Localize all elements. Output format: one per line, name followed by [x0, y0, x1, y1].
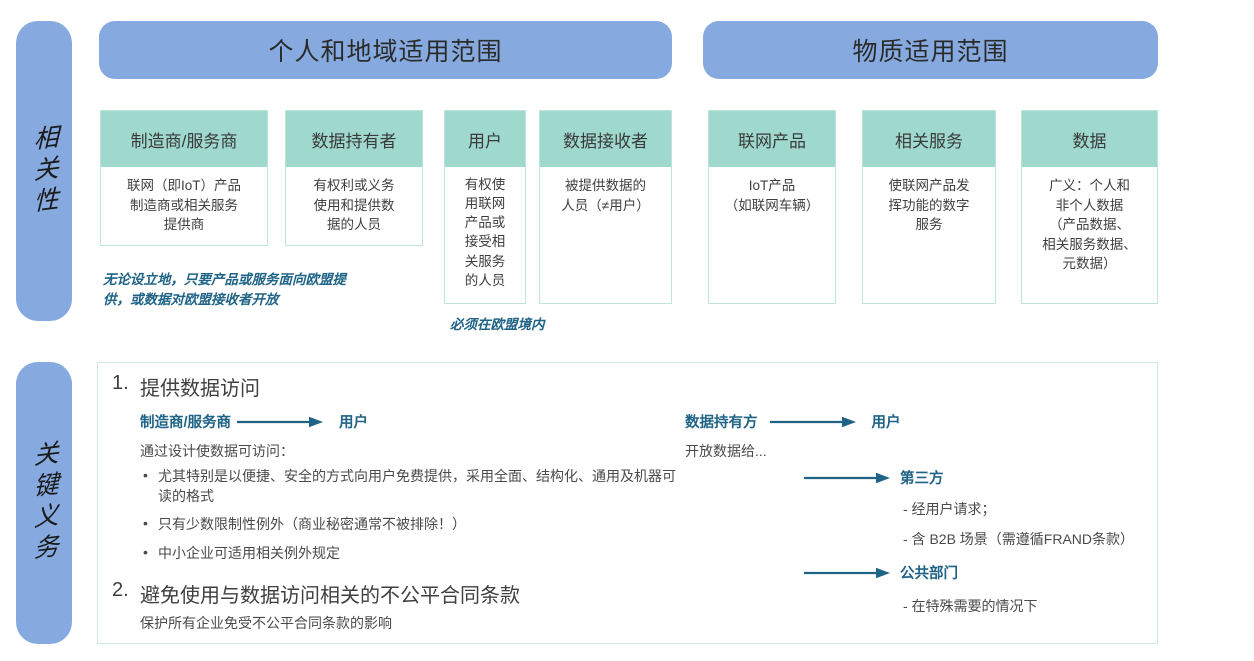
arrow-right-icon — [804, 472, 890, 484]
flow-data-holder-label: 数据持有方 — [685, 411, 758, 432]
flow-data-holder-target-label: 用户 — [872, 411, 901, 432]
banner-material-scope: 物质适用范围 — [703, 21, 1158, 79]
card-related-service-body: 使联网产品发 挥功能的数字 服务 — [863, 167, 995, 241]
obligation-item-1-title: 提供数据访问 — [140, 372, 260, 401]
card-data-holder-body: 有权利或义务 使用和提供数 据的人员 — [286, 167, 422, 241]
card-connected-product-head: 联网产品 — [709, 111, 835, 167]
banner-material-scope-title: 物质适用范围 — [852, 32, 1008, 68]
obligation-item-1-bullets: 尤其特别是以便捷、安全的方式向用户免费提供，采用全面、结构化、通用及机器可读的格… — [140, 467, 680, 572]
obligation-item-2-number: 2. — [112, 579, 140, 602]
card-related-service-head: 相关服务 — [863, 111, 995, 167]
obligation-item-2: 2. 避免使用与数据访问相关的不公平合同条款 保护所有企业免受不公平合同条款的影… — [112, 579, 752, 633]
card-connected-product-body: IoT产品 （如联网车辆） — [709, 167, 835, 221]
card-data-head: 数据 — [1022, 111, 1157, 167]
flow-data-holder-to-user: 数据持有方 用户 — [685, 411, 901, 432]
bullet-item: 中小企业可适用相关例外规定 — [140, 544, 680, 564]
bullet-item: 只有少数限制性例外（商业秘密通常不被排除！） — [140, 515, 680, 535]
flow-to-public-sector: 公共部门 — [804, 562, 958, 583]
card-manufacturer-service-provider-head: 制造商/服务商 — [101, 111, 267, 167]
card-data-recipient-head: 数据接收者 — [540, 111, 671, 167]
obligation-item-1-lead: 通过设计使数据可访问： — [140, 441, 294, 461]
obligation-item-1-row: 1. 提供数据访问 — [112, 372, 712, 401]
obligation-item-1-number: 1. — [112, 372, 140, 395]
card-data-recipient: 数据接收者 被提供数据的 人员（≠用户） — [539, 110, 672, 304]
rail-relevance: 相关性 — [16, 21, 72, 321]
flow-manufacturer-to-user: 制造商/服务商 用户 — [140, 411, 368, 432]
note-establishment-irrelevant: 无论设立地，只要产品或服务面向欧盟提 供，或数据对欧盟接收者开放 — [103, 270, 413, 309]
card-user-head: 用户 — [445, 111, 525, 167]
flow-manufacturer-label: 制造商/服务商 — [140, 411, 231, 432]
card-data-recipient-body: 被提供数据的 人员（≠用户） — [540, 167, 671, 221]
card-user-body: 有权使 用联网 产品或 接受相 关服务 的人员 — [445, 167, 525, 298]
slide-canvas: 相关性 关键义务 个人和地域适用范围 物质适用范围 制造商/服务商 联网（即Io… — [0, 0, 1254, 661]
flow-user-label: 用户 — [339, 411, 368, 432]
flow-public-sector-label: 公共部门 — [900, 562, 958, 583]
obligation-item-2-row: 2. 避免使用与数据访问相关的不公平合同条款 — [112, 579, 752, 608]
obligation-item-2-title: 避免使用与数据访问相关的不公平合同条款 — [140, 579, 520, 608]
flow-to-third-party: 第三方 — [804, 467, 944, 488]
note-must-be-in-eu: 必须在欧盟境内 — [450, 315, 660, 335]
arrow-right-icon — [237, 416, 323, 428]
third-party-detail-1: - 经用户请求； — [903, 499, 996, 519]
banner-personal-territorial-scope: 个人和地域适用范围 — [99, 21, 672, 79]
rail-relevance-label: 相关性 — [31, 123, 57, 219]
rail-key-obligations: 关键义务 — [16, 362, 72, 644]
arrow-right-icon — [804, 567, 890, 579]
public-sector-detail-1: - 在特殊需要的情况下 — [903, 596, 1038, 616]
flow-third-party-label: 第三方 — [900, 467, 944, 488]
obligation-item-2-sub: 保护所有企业免受不公平合同条款的影响 — [140, 613, 752, 633]
bullet-item: 尤其特别是以便捷、安全的方式向用户免费提供，采用全面、结构化、通用及机器可读的格… — [140, 467, 680, 506]
card-data-holder-head: 数据持有者 — [286, 111, 422, 167]
arrow-right-icon — [770, 416, 856, 428]
card-data-body: 广义：个人和 非个人数据 （产品数据、 相关服务数据、 元数据） — [1022, 167, 1157, 280]
card-manufacturer-service-provider: 制造商/服务商 联网（即IoT）产品 制造商或相关服务 提供商 — [100, 110, 268, 246]
card-manufacturer-service-provider-body: 联网（即IoT）产品 制造商或相关服务 提供商 — [101, 167, 267, 241]
card-related-service: 相关服务 使联网产品发 挥功能的数字 服务 — [862, 110, 996, 304]
card-connected-product: 联网产品 IoT产品 （如联网车辆） — [708, 110, 836, 304]
card-data-holder: 数据持有者 有权利或义务 使用和提供数 据的人员 — [285, 110, 423, 246]
banner-personal-territorial-scope-title: 个人和地域适用范围 — [268, 32, 502, 68]
obligation-item-1: 1. 提供数据访问 — [112, 372, 712, 401]
card-user: 用户 有权使 用联网 产品或 接受相 关服务 的人员 — [444, 110, 526, 304]
rail-key-obligations-label: 关键义务 — [31, 439, 57, 566]
key-obligations-panel: 1. 提供数据访问 制造商/服务商 用户 通过设计使数据可访问： 尤其特别是以便… — [97, 362, 1158, 644]
card-data: 数据 广义：个人和 非个人数据 （产品数据、 相关服务数据、 元数据） — [1021, 110, 1158, 304]
third-party-detail-2: - 含 B2B 场景（需遵循FRAND条款） — [903, 529, 1134, 549]
right-column-lead: 开放数据给... — [685, 441, 767, 461]
